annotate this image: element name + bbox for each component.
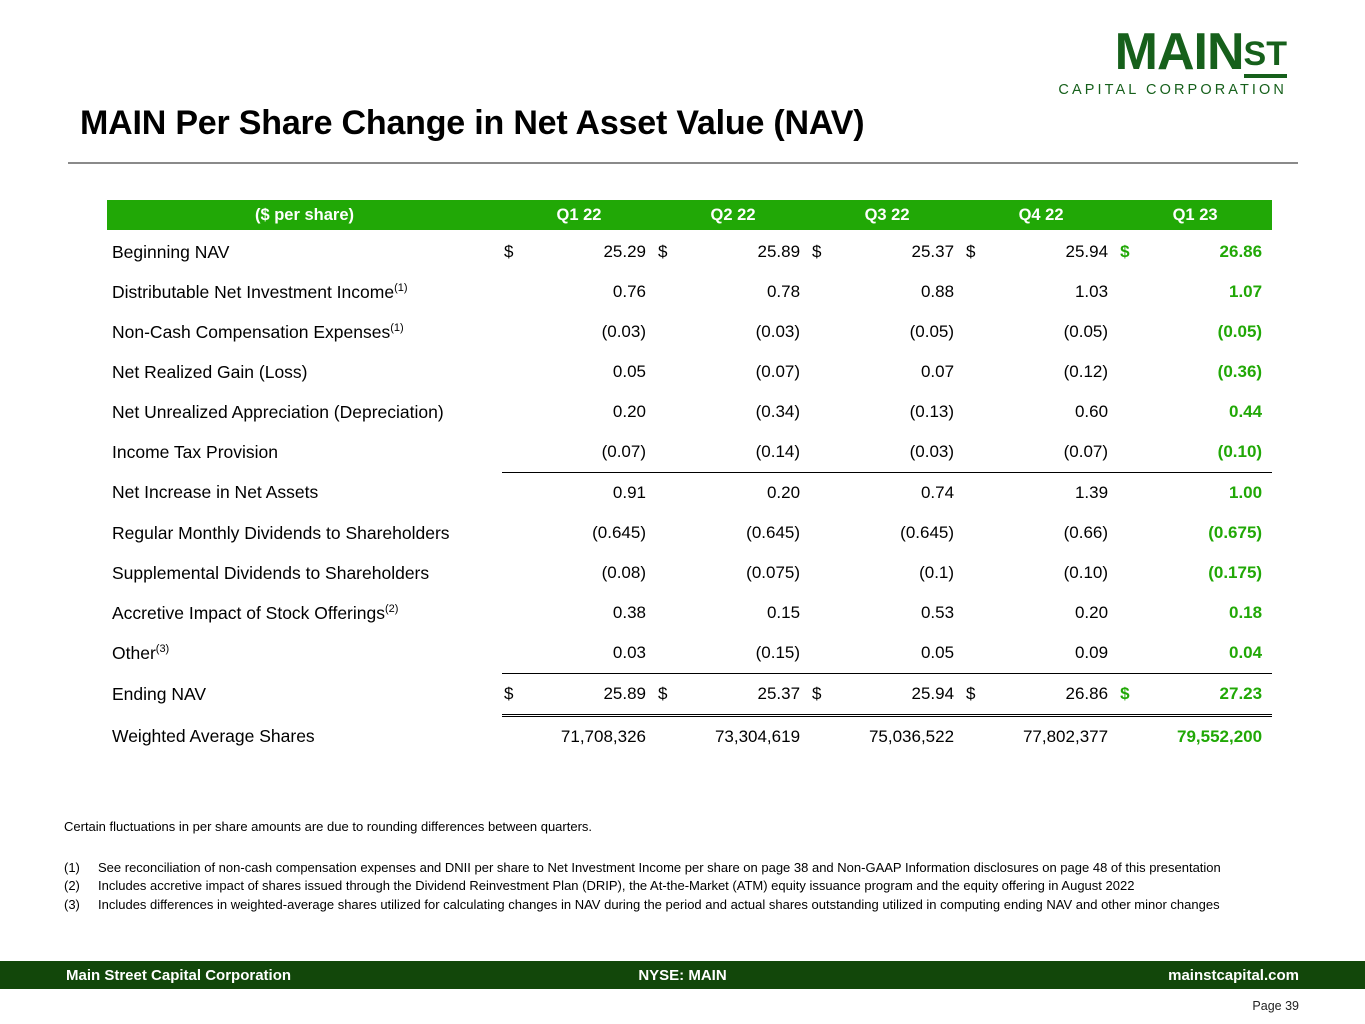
table-cell-value: 0.88 <box>840 272 964 312</box>
currency-symbol-cell <box>502 432 532 473</box>
table-cell-value: (0.03) <box>686 312 810 352</box>
table-cell-value: 75,036,522 <box>840 716 964 758</box>
column-header-q1-22: Q1 22 <box>502 200 656 230</box>
table-cell-value: (0.05) <box>994 312 1118 352</box>
table-row: Weighted Average Shares71,708,32673,304,… <box>107 716 1272 758</box>
currency-symbol-cell <box>810 633 840 674</box>
nav-table-body: Beginning NAV$25.29$25.89$25.37$25.94$26… <box>107 230 1272 757</box>
currency-symbol-cell <box>1118 352 1148 392</box>
currency-symbol-cell <box>810 272 840 312</box>
column-header-q1-23: Q1 23 <box>1118 200 1272 230</box>
footnote-list: (1)See reconciliation of non-cash compen… <box>64 859 1296 914</box>
footnote-marker: (2) <box>385 603 398 615</box>
currency-symbol-cell: $ <box>502 230 532 272</box>
table-cell-value: 71,708,326 <box>532 716 656 758</box>
table-cell-value: (0.07) <box>532 432 656 473</box>
table-cell-value: 0.76 <box>532 272 656 312</box>
row-label: Beginning NAV <box>107 230 502 272</box>
table-cell-value: 25.37 <box>686 674 810 716</box>
currency-symbol-cell <box>964 553 994 593</box>
currency-symbol-cell <box>502 312 532 352</box>
currency-symbol-cell <box>810 593 840 633</box>
table-cell-value: (0.07) <box>686 352 810 392</box>
currency-symbol-cell <box>502 553 532 593</box>
table-cell-value: 0.20 <box>686 473 810 514</box>
table-row: Regular Monthly Dividends to Shareholder… <box>107 513 1272 553</box>
currency-symbol-cell <box>656 593 686 633</box>
logo-wordmark: MAINST <box>1058 26 1287 78</box>
footnote-item: (3)Includes differences in weighted-aver… <box>64 896 1296 914</box>
table-cell-value: 0.09 <box>994 633 1118 674</box>
currency-symbol-cell <box>964 513 994 553</box>
table-cell-value: (0.66) <box>994 513 1118 553</box>
table-cell-value: (0.08) <box>532 553 656 593</box>
currency-symbol-cell <box>810 513 840 553</box>
page-number: Page 39 <box>1252 999 1299 1013</box>
currency-symbol-cell <box>964 312 994 352</box>
currency-symbol-cell <box>964 272 994 312</box>
table-cell-value: 25.89 <box>686 230 810 272</box>
table-cell-value: (0.15) <box>686 633 810 674</box>
table-cell-value: 0.38 <box>532 593 656 633</box>
table-cell-value: (0.13) <box>840 392 964 432</box>
table-cell-value: 77,802,377 <box>994 716 1118 758</box>
nav-table: ($ per share) Q1 22 Q2 22 Q3 22 Q4 22 Q1… <box>107 200 1272 757</box>
table-cell-value: 25.29 <box>532 230 656 272</box>
table-cell-value: (0.12) <box>994 352 1118 392</box>
currency-symbol-cell <box>656 716 686 758</box>
table-cell-value: (0.1) <box>840 553 964 593</box>
footnote-number: (2) <box>64 877 98 895</box>
currency-symbol-cell: $ <box>964 674 994 716</box>
table-cell-value: (0.10) <box>1148 432 1272 473</box>
table-cell-value: 0.18 <box>1148 593 1272 633</box>
table-cell-value: (0.03) <box>532 312 656 352</box>
currency-symbol-cell: $ <box>1118 674 1148 716</box>
table-cell-value: (0.10) <box>994 553 1118 593</box>
company-logo: MAINST CAPITAL CORPORATION <box>1058 26 1287 98</box>
nav-table-head: ($ per share) Q1 22 Q2 22 Q3 22 Q4 22 Q1… <box>107 200 1272 230</box>
table-cell-value: 25.89 <box>532 674 656 716</box>
currency-symbol-cell <box>810 352 840 392</box>
column-header-label: ($ per share) <box>107 200 502 230</box>
currency-symbol-cell <box>502 593 532 633</box>
table-cell-value: 1.03 <box>994 272 1118 312</box>
table-cell-value: 1.07 <box>1148 272 1272 312</box>
currency-symbol-cell <box>656 633 686 674</box>
table-cell-value: (0.14) <box>686 432 810 473</box>
footnotes-section: Certain fluctuations in per share amount… <box>64 818 1296 914</box>
currency-symbol-cell <box>810 716 840 758</box>
table-cell-value: 0.20 <box>532 392 656 432</box>
currency-symbol-cell: $ <box>964 230 994 272</box>
footer-bar: Main Street Capital Corporation NYSE: MA… <box>0 961 1365 989</box>
currency-symbol-cell: $ <box>656 230 686 272</box>
currency-symbol-cell <box>964 392 994 432</box>
nav-table-container: ($ per share) Q1 22 Q2 22 Q3 22 Q4 22 Q1… <box>107 200 1271 757</box>
currency-symbol-cell: $ <box>810 674 840 716</box>
currency-symbol-cell <box>502 272 532 312</box>
table-cell-value: 0.53 <box>840 593 964 633</box>
row-label: Supplemental Dividends to Shareholders <box>107 553 502 593</box>
footer-ticker: NYSE: MAIN <box>0 967 1365 984</box>
page-title: MAIN Per Share Change in Net Asset Value… <box>80 104 864 143</box>
currency-symbol-cell <box>656 553 686 593</box>
table-cell-value: 0.60 <box>994 392 1118 432</box>
currency-symbol-cell <box>1118 593 1148 633</box>
table-cell-value: 73,304,619 <box>686 716 810 758</box>
title-divider <box>68 162 1298 164</box>
currency-symbol-cell <box>1118 513 1148 553</box>
currency-symbol-cell <box>964 352 994 392</box>
table-cell-value: 0.04 <box>1148 633 1272 674</box>
row-label: Regular Monthly Dividends to Shareholder… <box>107 513 502 553</box>
currency-symbol-cell <box>964 593 994 633</box>
table-cell-value: 0.03 <box>532 633 656 674</box>
table-cell-value: 25.94 <box>994 230 1118 272</box>
footnote-text: Includes accretive impact of shares issu… <box>98 877 1296 895</box>
table-header-row: ($ per share) Q1 22 Q2 22 Q3 22 Q4 22 Q1… <box>107 200 1272 230</box>
table-row: Income Tax Provision(0.07)(0.14)(0.03)(0… <box>107 432 1272 473</box>
table-row: Net Realized Gain (Loss)0.05(0.07)0.07(0… <box>107 352 1272 392</box>
currency-symbol-cell <box>656 432 686 473</box>
table-row: Accretive Impact of Stock Offerings(2)0.… <box>107 593 1272 633</box>
currency-symbol-cell <box>656 272 686 312</box>
table-cell-value: (0.675) <box>1148 513 1272 553</box>
currency-symbol-cell <box>502 633 532 674</box>
footnote-number: (3) <box>64 896 98 914</box>
currency-symbol-cell: $ <box>810 230 840 272</box>
currency-symbol-cell <box>810 553 840 593</box>
currency-symbol-cell <box>656 473 686 514</box>
row-label: Ending NAV <box>107 674 502 716</box>
table-cell-value: 0.07 <box>840 352 964 392</box>
footer-website[interactable]: mainstcapital.com <box>1168 967 1299 984</box>
currency-symbol-cell <box>964 432 994 473</box>
column-header-q2-22: Q2 22 <box>656 200 810 230</box>
currency-symbol-cell <box>1118 633 1148 674</box>
table-cell-value: (0.36) <box>1148 352 1272 392</box>
currency-symbol-cell <box>656 312 686 352</box>
currency-symbol-cell <box>1118 473 1148 514</box>
currency-symbol-cell <box>656 513 686 553</box>
table-row: Net Increase in Net Assets0.910.200.741.… <box>107 473 1272 514</box>
table-cell-value: 0.74 <box>840 473 964 514</box>
currency-symbol-cell <box>1118 392 1148 432</box>
currency-symbol-cell <box>656 352 686 392</box>
table-cell-value: 0.78 <box>686 272 810 312</box>
row-label: Net Increase in Net Assets <box>107 473 502 514</box>
currency-symbol-cell <box>810 312 840 352</box>
table-cell-value: 0.15 <box>686 593 810 633</box>
table-cell-value: (0.645) <box>532 513 656 553</box>
table-cell-value: 0.44 <box>1148 392 1272 432</box>
footnote-number: (1) <box>64 859 98 877</box>
footnote-marker: (3) <box>156 643 169 655</box>
table-cell-value: 79,552,200 <box>1148 716 1272 758</box>
currency-symbol-cell <box>656 392 686 432</box>
column-header-q3-22: Q3 22 <box>810 200 964 230</box>
logo-subtitle: CAPITAL CORPORATION <box>1058 83 1287 98</box>
logo-main-text: MAIN <box>1115 26 1244 78</box>
currency-symbol-cell <box>1118 312 1148 352</box>
currency-symbol-cell <box>964 716 994 758</box>
table-cell-value: (0.34) <box>686 392 810 432</box>
row-label: Net Realized Gain (Loss) <box>107 352 502 392</box>
table-cell-value: 26.86 <box>994 674 1118 716</box>
currency-symbol-cell <box>502 716 532 758</box>
table-row: Net Unrealized Appreciation (Depreciatio… <box>107 392 1272 432</box>
footnote-marker: (1) <box>390 322 403 334</box>
table-row: Ending NAV$25.89$25.37$25.94$26.86$27.23 <box>107 674 1272 716</box>
rounding-note: Certain fluctuations in per share amount… <box>64 818 1296 836</box>
row-label: Other(3) <box>107 633 502 674</box>
table-cell-value: 1.39 <box>994 473 1118 514</box>
currency-symbol-cell <box>964 473 994 514</box>
currency-symbol-cell <box>1118 272 1148 312</box>
currency-symbol-cell: $ <box>502 674 532 716</box>
currency-symbol-cell <box>810 473 840 514</box>
row-label: Net Unrealized Appreciation (Depreciatio… <box>107 392 502 432</box>
currency-symbol-cell <box>1118 716 1148 758</box>
table-cell-value: 0.05 <box>840 633 964 674</box>
table-cell-value: 27.23 <box>1148 674 1272 716</box>
table-cell-value: (0.05) <box>1148 312 1272 352</box>
currency-symbol-cell: $ <box>1118 230 1148 272</box>
table-row: Other(3)0.03(0.15)0.050.090.04 <box>107 633 1272 674</box>
table-cell-value: 25.37 <box>840 230 964 272</box>
footnote-item: (2)Includes accretive impact of shares i… <box>64 877 1296 895</box>
table-cell-value: (0.645) <box>840 513 964 553</box>
footnote-marker: (1) <box>394 282 407 294</box>
currency-symbol-cell <box>1118 553 1148 593</box>
table-cell-value: 1.00 <box>1148 473 1272 514</box>
table-row: Non-Cash Compensation Expenses(1)(0.03)(… <box>107 312 1272 352</box>
table-row: Distributable Net Investment Income(1)0.… <box>107 272 1272 312</box>
currency-symbol-cell <box>1118 432 1148 473</box>
table-cell-value: (0.075) <box>686 553 810 593</box>
row-label: Weighted Average Shares <box>107 716 502 758</box>
table-cell-value: 0.05 <box>532 352 656 392</box>
row-label: Distributable Net Investment Income(1) <box>107 272 502 312</box>
table-cell-value: (0.03) <box>840 432 964 473</box>
table-row: Supplemental Dividends to Shareholders(0… <box>107 553 1272 593</box>
table-cell-value: (0.07) <box>994 432 1118 473</box>
currency-symbol-cell <box>964 633 994 674</box>
row-label: Accretive Impact of Stock Offerings(2) <box>107 593 502 633</box>
currency-symbol-cell <box>502 473 532 514</box>
currency-symbol-cell <box>502 352 532 392</box>
row-label: Non-Cash Compensation Expenses(1) <box>107 312 502 352</box>
currency-symbol-cell <box>502 392 532 432</box>
table-cell-value: (0.175) <box>1148 553 1272 593</box>
table-cell-value: 0.20 <box>994 593 1118 633</box>
table-row: Beginning NAV$25.29$25.89$25.37$25.94$26… <box>107 230 1272 272</box>
table-cell-value: (0.645) <box>686 513 810 553</box>
footnote-item: (1)See reconciliation of non-cash compen… <box>64 859 1296 877</box>
logo-st-text: ST <box>1244 37 1287 78</box>
column-header-q4-22: Q4 22 <box>964 200 1118 230</box>
currency-symbol-cell <box>502 513 532 553</box>
table-cell-value: 0.91 <box>532 473 656 514</box>
footnote-text: Includes differences in weighted-average… <box>98 896 1296 914</box>
currency-symbol-cell: $ <box>656 674 686 716</box>
table-cell-value: 26.86 <box>1148 230 1272 272</box>
table-cell-value: (0.05) <box>840 312 964 352</box>
table-cell-value: 25.94 <box>840 674 964 716</box>
footnote-text: See reconciliation of non-cash compensat… <box>98 859 1296 877</box>
row-label: Income Tax Provision <box>107 432 502 473</box>
currency-symbol-cell <box>810 392 840 432</box>
currency-symbol-cell <box>810 432 840 473</box>
